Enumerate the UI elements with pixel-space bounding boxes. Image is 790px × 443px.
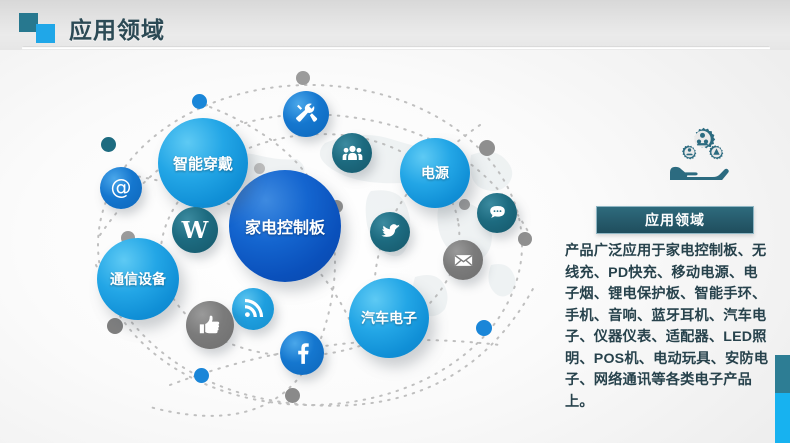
people-icon[interactable] [332, 133, 372, 173]
decor-dot [101, 137, 116, 152]
envelope-glyph [452, 249, 475, 272]
bubble-label: 汽车电子 [361, 308, 417, 328]
tools-glyph [293, 101, 319, 127]
panel-title-label: 应用领域 [645, 210, 705, 230]
svg-text:@: @ [111, 175, 132, 199]
hand-gears-people-icon [668, 122, 730, 180]
bubble-automotive-electronics[interactable]: 汽车电子 [349, 278, 429, 358]
decor-dot [518, 232, 532, 246]
at-sign-icon[interactable]: @ [100, 167, 142, 209]
bubble-communication-equipment[interactable]: 通信设备 [97, 238, 179, 320]
decor-dot [194, 368, 209, 383]
page-title: 应用领域 [69, 11, 165, 45]
rss-wifi-glyph [241, 297, 265, 321]
wordpress-glyph: W [180, 215, 210, 245]
facebook-glyph [289, 340, 315, 366]
decor-dot [476, 320, 492, 336]
decor-dot [285, 388, 300, 403]
accent-bar-top [775, 355, 790, 393]
people-glyph [341, 142, 364, 165]
decor-dot [459, 199, 470, 210]
wordpress-icon[interactable]: W [172, 207, 218, 253]
bubble-label: 智能穿戴 [173, 153, 233, 174]
bubble-label: 电源 [421, 163, 449, 183]
panel-title: 应用领域 [596, 206, 754, 234]
bubble-smart-wearable[interactable]: 智能穿戴 [158, 118, 248, 208]
chat-bubble-glyph [486, 202, 509, 225]
thumbs-up-glyph [197, 312, 223, 338]
bubble-home-appliance-control-board[interactable]: 家电控制板 [229, 170, 341, 282]
bubble-power-supply[interactable]: 电源 [400, 138, 470, 208]
decor-dot [192, 94, 207, 109]
at-sign-glyph: @ [107, 174, 135, 202]
thumbs-up-icon[interactable] [186, 301, 234, 349]
twitter-glyph [379, 221, 402, 244]
decor-dot [296, 71, 310, 85]
panel-body-text: 产品广泛应用于家电控制板、无线充、PD快充、移动电源、电子烟、锂电保护板、智能手… [565, 241, 770, 413]
rss-wifi-icon[interactable] [232, 288, 274, 330]
svg-text:W: W [181, 216, 209, 244]
slide-canvas: 应用领域 [0, 0, 790, 443]
decor-dot [479, 140, 495, 156]
envelope-icon[interactable] [443, 240, 483, 280]
logo-square-light-icon [36, 24, 55, 43]
facebook-icon[interactable] [280, 331, 324, 375]
bubble-label: 家电控制板 [245, 214, 325, 238]
decor-dot [107, 318, 123, 334]
accent-bar-bottom [775, 393, 790, 443]
twitter-icon[interactable] [370, 212, 410, 252]
chat-bubble-icon[interactable] [477, 193, 517, 233]
slide-header: 应用领域 [0, 0, 790, 50]
decor-dot [254, 163, 265, 174]
bubble-label: 通信设备 [110, 269, 166, 289]
header-divider [22, 46, 770, 50]
tools-icon[interactable] [283, 91, 329, 137]
